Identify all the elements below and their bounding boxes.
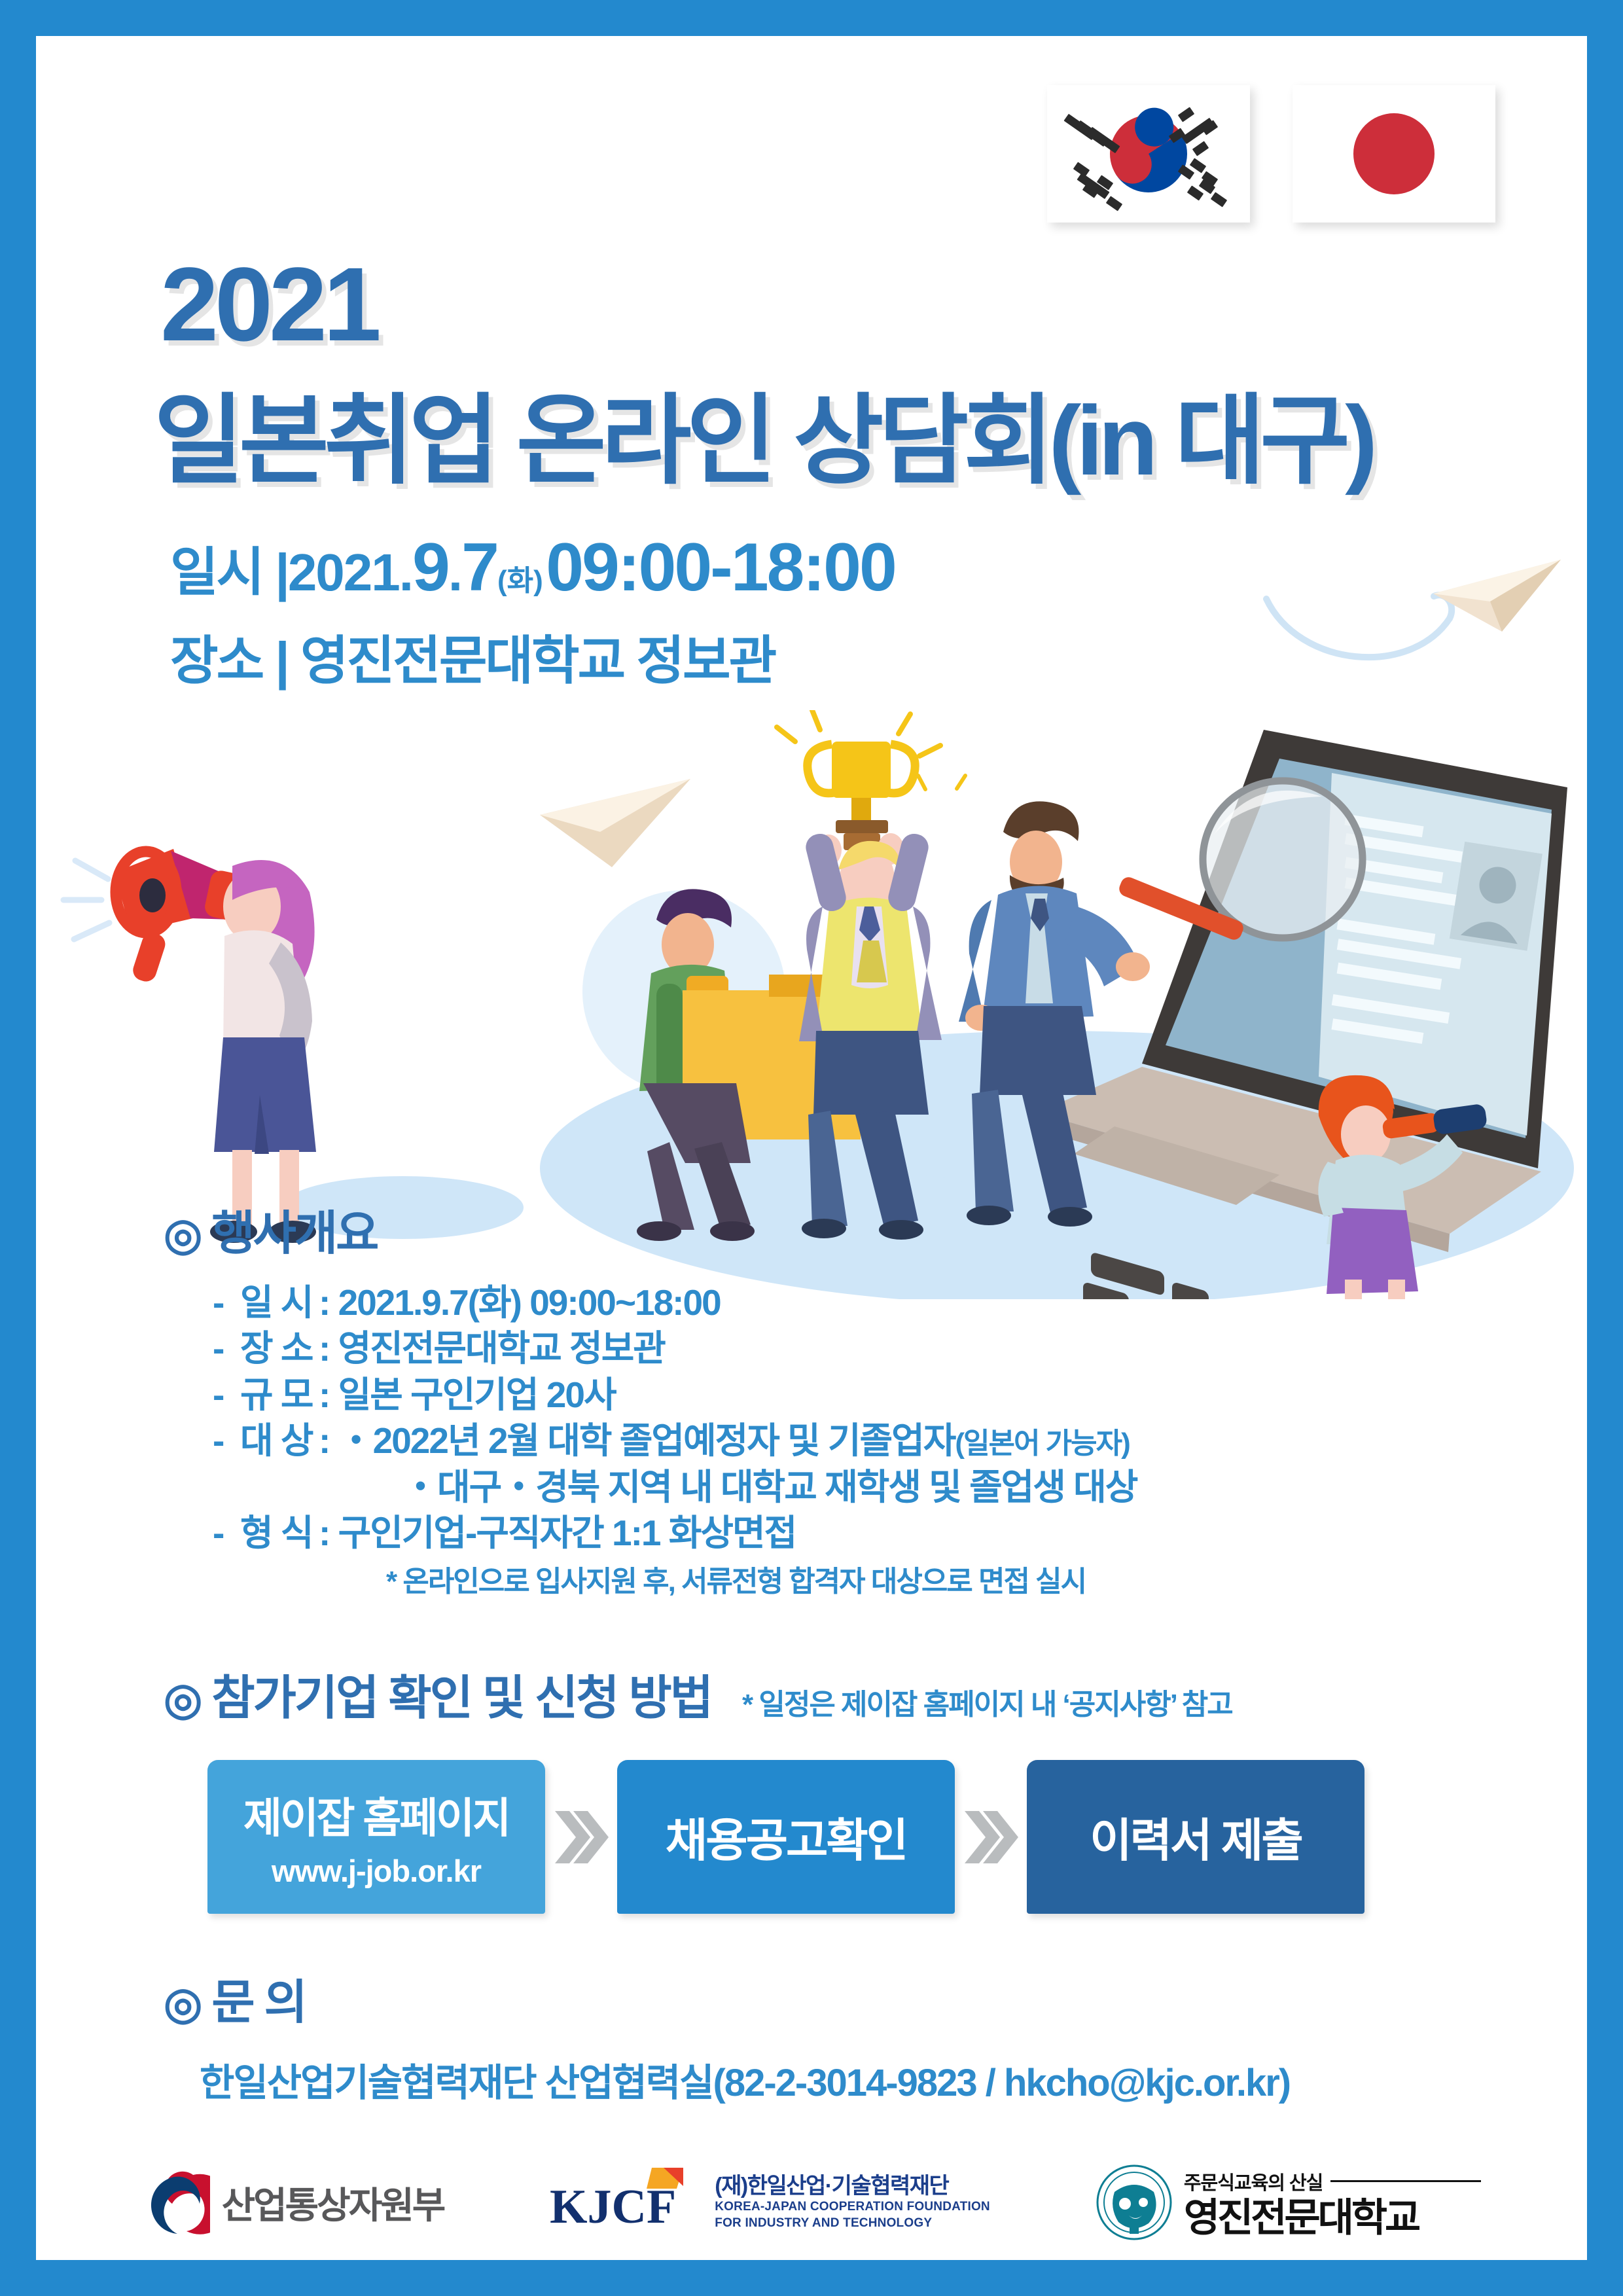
process-step-jjob-homepage[interactable]: 제이잡 홈페이지 www.j-job.or.kr bbox=[207, 1760, 545, 1914]
bullet-sep: : bbox=[319, 1420, 329, 1461]
logo-kjcf: KJCF (재)한일산업·기술협력재단 KOREA-JAPAN COOPERAT… bbox=[548, 2166, 990, 2238]
flags-group bbox=[1047, 85, 1495, 223]
bullet-value-note: (일본어 가능자) bbox=[955, 1427, 1129, 1460]
process-step-submit-resume[interactable]: 이력서 제출 bbox=[1027, 1760, 1364, 1914]
kjcf-mark-icon: KJCF bbox=[548, 2166, 705, 2238]
bullet-key: 장 소 bbox=[240, 1325, 319, 1371]
yeungjin-name: 영진전문대학교 bbox=[1184, 2198, 1482, 2238]
chevron-right-icon bbox=[545, 1806, 617, 1869]
bullet-key: 형 식 bbox=[240, 1510, 319, 1556]
chevron-right-icon bbox=[955, 1806, 1027, 1869]
kjcf-english-name-1: KOREA-JAPAN COOPERATION FOUNDATION bbox=[715, 2200, 990, 2214]
poster-title: 일본취업 온라인 상담회(in 대구) bbox=[154, 389, 1372, 493]
paper-plane-small-icon bbox=[540, 779, 690, 867]
overview-row: ・대구・경북 지역 내 대학교 재학생 및 졸업생 대상 bbox=[213, 1464, 1137, 1510]
bullet-value: ・2022년 2월 대학 졸업예정자 및 기졸업자 bbox=[338, 1420, 955, 1461]
yeungjin-tagline: 주문식교육의 산실 bbox=[1184, 2168, 1323, 2195]
date-line: 일시 |2021.9.7(화) 09:00-18:00 bbox=[170, 533, 895, 601]
poster-frame: 2021 일본취업 온라인 상담회(in 대구) 일시 |2021.9.7(화)… bbox=[0, 0, 1623, 2296]
svg-text:KJCF: KJCF bbox=[550, 2180, 676, 2234]
date-dot: . bbox=[448, 543, 461, 601]
kjcf-text-block: (재)한일산업·기술협력재단 KOREA-JAPAN COOPERATION F… bbox=[715, 2175, 990, 2231]
yeungjin-tagline-row: 주문식교육의 산실 bbox=[1184, 2168, 1482, 2195]
apply-heading-label: 참가기업 확인 및 신청 방법 bbox=[211, 1672, 711, 1725]
bullet-dash: - bbox=[213, 1418, 240, 1463]
overview-row: * 온라인으로 입사지원 후, 서류전형 합격자 대상으로 면접 실시 bbox=[213, 1556, 1137, 1602]
bullet-sep: : bbox=[319, 1328, 329, 1369]
yeungjin-rule bbox=[1330, 2180, 1481, 2182]
inquiry-heading: ◎ 문 의 bbox=[164, 1964, 306, 2032]
hinomaru-icon bbox=[1353, 113, 1435, 194]
bullet-value: 영진전문대학교 정보관 bbox=[338, 1328, 665, 1369]
process-step-title: 채용공고확인 bbox=[666, 1804, 906, 1870]
bullet-value: 2021.9.7(화) 09:00~18:00 bbox=[338, 1282, 721, 1323]
kjcf-english-name-2: FOR INDUSTRY AND TECHNOLOGY bbox=[715, 2216, 990, 2230]
yeungjin-seal-icon bbox=[1095, 2163, 1173, 2242]
overview-heading-label: 행사개요 bbox=[211, 1208, 377, 1260]
bullet-sep: : bbox=[319, 1282, 329, 1323]
apply-process-flow: 제이잡 홈페이지 www.j-job.or.kr 채용공고확인 이력서 제출 bbox=[207, 1760, 1364, 1914]
motie-symbol-icon bbox=[142, 2168, 210, 2236]
bullet-value: 구인기업-구직자간 1:1 화상면접 bbox=[338, 1513, 796, 1553]
footer-logos: 산업통상자원부 KJCF (재)한일산업·기술협력재단 KOREA-JAPAN … bbox=[36, 2163, 1587, 2242]
yeungjin-text-block: 주문식교육의 산실 영진전문대학교 bbox=[1184, 2168, 1482, 2238]
place-line: 장소 | 영진전문대학교 정보관 bbox=[170, 619, 775, 694]
ring-icon: ◎ bbox=[164, 1210, 200, 1259]
kjcf-korean-name: (재)한일산업·기술협력재단 bbox=[715, 2175, 990, 2197]
logo-motie: 산업통상자원부 bbox=[142, 2168, 444, 2236]
process-step-job-posting[interactable]: 채용공고확인 bbox=[617, 1760, 955, 1914]
date-day: 7 bbox=[461, 529, 497, 605]
bullet-key: 대 상 bbox=[240, 1418, 319, 1463]
date-weekday: (화) bbox=[497, 565, 543, 597]
date-label: 일시 | bbox=[170, 543, 288, 601]
inquiry-heading-label: 문 의 bbox=[211, 1977, 305, 2029]
bullet-footnote: * 온라인으로 입사지원 후, 서류전형 합격자 대상으로 면접 실시 bbox=[213, 1564, 1086, 1600]
lightbulb-icon bbox=[918, 776, 965, 789]
ring-icon: ◎ bbox=[164, 1979, 200, 2028]
character-megaphone-woman bbox=[63, 849, 316, 1243]
bullet-key: 규 모 bbox=[240, 1372, 319, 1418]
logo-yeungjin: 주문식교육의 산실 영진전문대학교 bbox=[1095, 2163, 1482, 2242]
process-step-title: 제이잡 홈페이지 bbox=[243, 1785, 509, 1845]
bullet-sep: : bbox=[319, 1374, 329, 1415]
overview-row: -장 소: 영진전문대학교 정보관 bbox=[213, 1325, 1137, 1371]
inquiry-contact-line: 한일산업기술협력재단 산업협력실(82-2-3014-9823 / hkcho@… bbox=[200, 2052, 1290, 2107]
bullet-key: 일 시 bbox=[240, 1280, 319, 1325]
paper-plane-icon bbox=[1430, 553, 1567, 638]
process-step-title: 이력서 제출 bbox=[1090, 1804, 1301, 1870]
overview-row: -규 모: 일본 구인기업 20사 bbox=[213, 1372, 1137, 1418]
process-step-url: www.j-job.or.kr bbox=[272, 1853, 481, 1889]
korea-flag bbox=[1047, 85, 1250, 223]
motie-label: 산업통상자원부 bbox=[222, 2176, 444, 2229]
japan-flag bbox=[1293, 85, 1495, 223]
bullet-sep: : bbox=[319, 1513, 329, 1553]
overview-list: -일 시: 2021.9.7(화) 09:00~18:00 -장 소: 영진전문… bbox=[213, 1280, 1137, 1602]
apply-note: * 일정은 제이잡 홈페이지 내 ‘공지사항’ 참고 bbox=[742, 1689, 1232, 1721]
date-time: 09:00-18:00 bbox=[546, 529, 895, 605]
bullet-value: 일본 구인기업 20사 bbox=[338, 1374, 616, 1415]
date-month: 9 bbox=[412, 529, 448, 605]
magnifier-icon bbox=[1117, 781, 1363, 942]
date-year: 2021. bbox=[288, 543, 412, 601]
poster-year: 2021 bbox=[160, 252, 378, 357]
bullet-dash: - bbox=[213, 1510, 240, 1556]
overview-row: -형 식: 구인기업-구직자간 1:1 화상면접 bbox=[213, 1510, 1137, 1556]
overview-heading: ◎ 행사개요 bbox=[164, 1194, 377, 1263]
overview-row: -일 시: 2021.9.7(화) 09:00~18:00 bbox=[213, 1280, 1137, 1325]
bullet-dash: - bbox=[213, 1325, 240, 1371]
poster-sheet: 2021 일본취업 온라인 상담회(in 대구) 일시 |2021.9.7(화)… bbox=[36, 36, 1587, 2260]
apply-heading: ◎ 참가기업 확인 및 신청 방법 * 일정은 제이잡 홈페이지 내 ‘공지사항… bbox=[164, 1659, 1232, 1728]
bullet-dash: - bbox=[213, 1280, 240, 1325]
bullet-dash: - bbox=[213, 1372, 240, 1418]
ring-icon: ◎ bbox=[164, 1674, 200, 1724]
bullet-subline: ・대구・경북 지역 내 대학교 재학생 및 졸업생 대상 bbox=[213, 1464, 1137, 1510]
overview-row: -대 상: ・2022년 2월 대학 졸업예정자 및 기졸업자(일본어 가능자) bbox=[213, 1418, 1137, 1463]
